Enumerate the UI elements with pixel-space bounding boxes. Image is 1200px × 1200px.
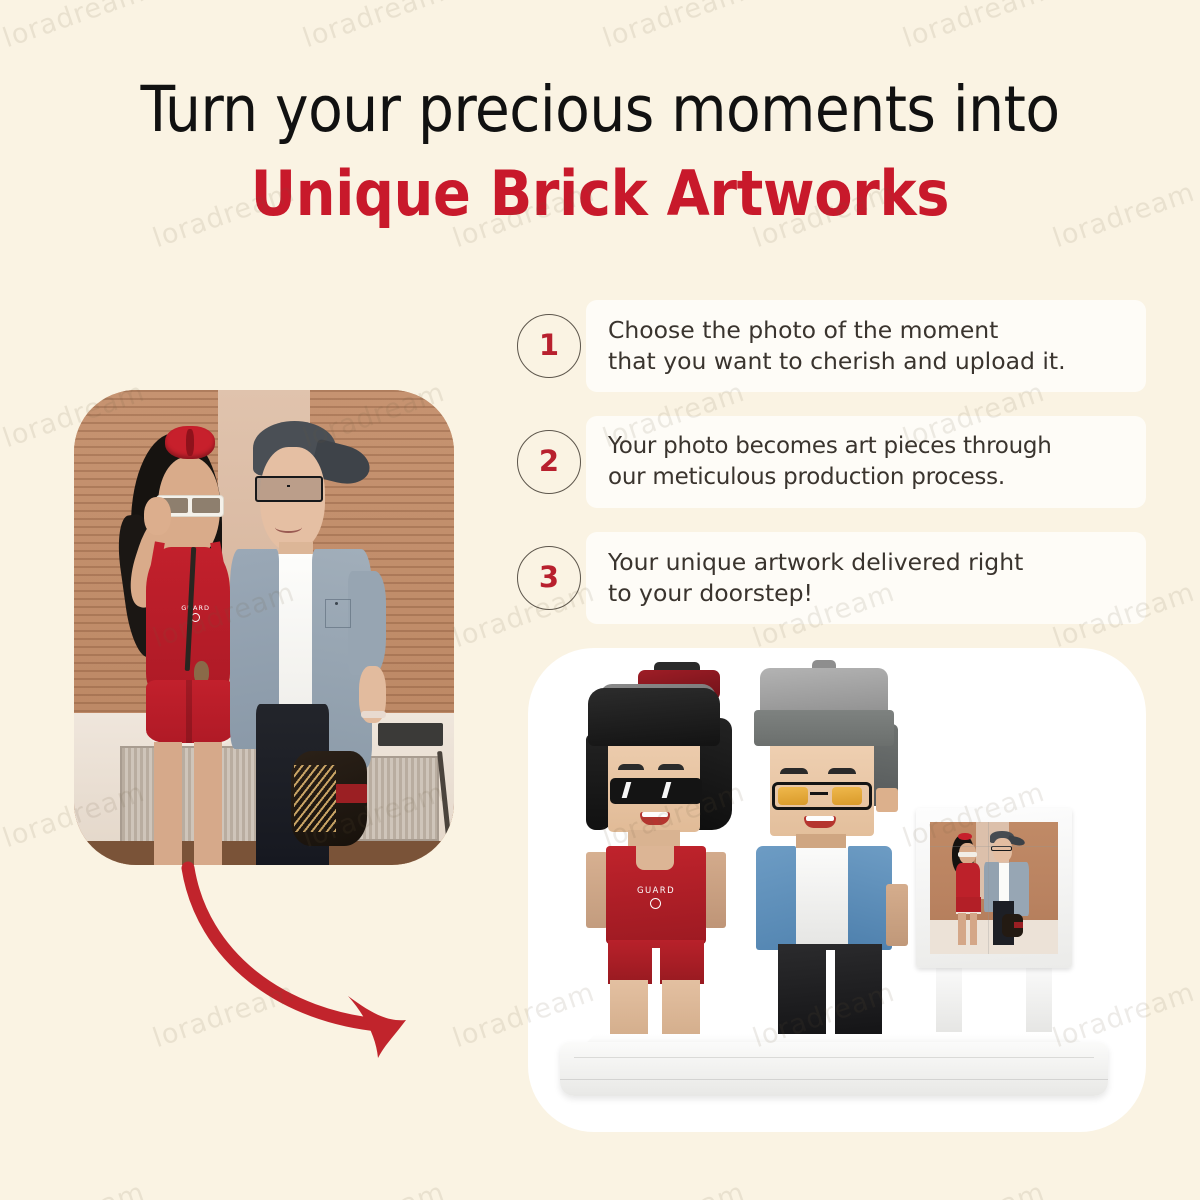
woman-shorts: [146, 680, 233, 747]
frame-seam-vertical: [988, 822, 989, 954]
watermark-text: loradream: [599, 0, 749, 54]
original-couple-photo: GUARD: [74, 390, 454, 865]
frame-seam-top: [930, 846, 1058, 847]
man-brick-ear: [876, 788, 898, 812]
mini-woman-leg-left: [958, 913, 966, 945]
step-number-label: 2: [539, 447, 559, 478]
woman-brick-arm-left: [586, 852, 608, 928]
step-card: Choose the photo of the moment that you …: [586, 300, 1146, 392]
woman-brick-chest-skin: [636, 846, 674, 870]
man-shirt-pocket: [325, 599, 352, 628]
brick-photo-frame-image: [930, 822, 1058, 954]
man-smile: [275, 521, 302, 533]
step-number-label: 1: [539, 331, 559, 362]
step-text-line-1: Your unique artwork delivered right: [608, 547, 1023, 578]
list-item: 2 Your photo becomes art pieces through …: [508, 416, 1158, 512]
woman-brick-guard-emblem: [650, 898, 661, 909]
headline-line-1: Turn your precious moments into: [0, 78, 1200, 141]
woman-brick-leg-gap: [652, 948, 660, 984]
woman-leg-right: [194, 742, 223, 866]
step-text: Your unique artwork delivered right to y…: [586, 547, 1023, 610]
photo-radiator-grill-right: [355, 756, 439, 842]
baseball-glove-tag: [336, 784, 366, 803]
step-number-badge: 3: [517, 546, 581, 610]
man-brick-cap-brim: [754, 710, 894, 746]
brick-base-seam-lower: [560, 1079, 1108, 1080]
mini-woman-sunglasses: [958, 852, 977, 857]
woman-brick-guard-print: GUARD: [624, 886, 688, 896]
list-item: 1 Choose the photo of the moment that yo…: [508, 300, 1158, 396]
woman-sunglass-lens-right: [192, 498, 220, 513]
step-text-line-1: Choose the photo of the moment: [608, 315, 1066, 346]
headline-line-2: Unique Brick Artworks: [0, 163, 1200, 225]
man-sleeve-right: [348, 571, 386, 676]
mini-woman-shorts: [956, 897, 982, 914]
brick-base-seam: [574, 1057, 1094, 1058]
mini-glove-tag: [1014, 922, 1023, 927]
man-brick-shirt-left: [756, 846, 796, 950]
step-number-badge: 2: [517, 430, 581, 494]
man-brick-arm-right: [886, 884, 908, 946]
watermark-text: loradream: [299, 1177, 449, 1200]
list-item: 3 Your unique artwork delivered right to…: [508, 532, 1158, 628]
step-card: Your unique artwork delivered right to y…: [586, 532, 1146, 624]
step-text-line-2: to your doorstep!: [608, 578, 1023, 609]
step-card: Your photo becomes art pieces through ou…: [586, 416, 1146, 508]
step-text-line-2: that you want to cherish and upload it.: [608, 346, 1066, 377]
man-glasses: [255, 476, 323, 502]
arrow-icon: [180, 860, 500, 1060]
photo-console: [378, 723, 443, 747]
woman-guard-print: GUARD: [173, 604, 219, 622]
man-bracelet: [361, 711, 386, 719]
brick-base-plate: [560, 1042, 1108, 1096]
mini-woman-swimsuit: [956, 863, 980, 900]
watermark-text: loradream: [599, 1177, 749, 1200]
watermark-text: loradream: [899, 0, 1049, 54]
step-text-line-1: Your photo becomes art pieces through: [608, 431, 1052, 462]
woman-brick-mouth: [640, 812, 670, 825]
steps-list: 1 Choose the photo of the moment that yo…: [508, 300, 1158, 648]
watermark-text: loradream: [299, 0, 449, 54]
curved-red-arrow: [180, 860, 500, 1065]
step-text-line-2: our meticulous production process.: [608, 462, 1052, 493]
watermark-text: loradream: [899, 1177, 1049, 1200]
woman-brick-arm-right: [704, 852, 726, 928]
step-number-label: 3: [539, 563, 559, 594]
step-text: Your photo becomes art pieces through ou…: [586, 431, 1052, 492]
step-number-badge: 1: [517, 314, 581, 378]
man-brick-glasses: [772, 782, 872, 810]
woman-brick-brow-left: [618, 764, 644, 770]
man-brick-brow-left: [780, 768, 808, 774]
man-brick-tshirt: [790, 848, 852, 944]
baseball-glove-lacing: [294, 765, 336, 832]
frame-post-left: [936, 966, 962, 1032]
man-brick-mouth: [804, 816, 836, 828]
woman-hair-bow: [165, 426, 214, 459]
woman-hand: [144, 497, 171, 535]
page-title: Turn your precious moments into Unique B…: [0, 78, 1200, 225]
woman-brick-hair-fringe: [588, 688, 720, 746]
watermark-text: loradream: [0, 1177, 149, 1200]
frame-post-right: [1026, 966, 1052, 1032]
brick-artwork-photo: GUARD: [528, 648, 1146, 1132]
woman-leg-left: [154, 742, 183, 866]
man-brick-glasses-bridge: [810, 792, 828, 795]
mini-couple-photo: [930, 822, 1058, 954]
man-brick-brow-right: [828, 768, 856, 774]
mini-woman-leg-right: [970, 913, 978, 945]
step-text: Choose the photo of the moment that you …: [586, 315, 1066, 378]
watermark-text: loradream: [0, 0, 149, 54]
woman-brick-brow-right: [658, 764, 684, 770]
